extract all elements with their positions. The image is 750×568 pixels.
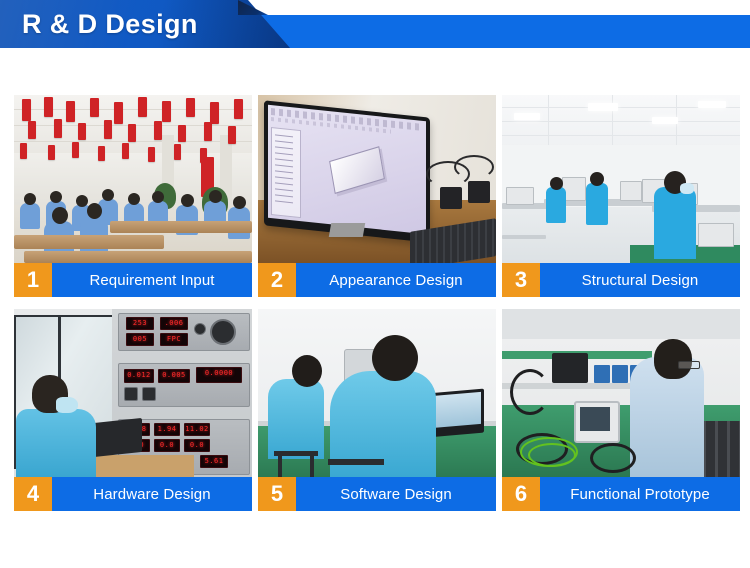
step-photo-6 xyxy=(502,309,740,477)
photo-cad-monitor xyxy=(258,95,496,263)
step-number-4: 4 xyxy=(14,477,52,511)
step-photo-1 xyxy=(14,95,252,263)
photo-clean-lab xyxy=(502,95,740,263)
page-title: R & D Design xyxy=(22,6,198,42)
step-card-6[interactable]: 6 Functional Prototype xyxy=(502,309,740,511)
step-label-5: Software Design xyxy=(296,477,496,511)
step-photo-3 xyxy=(502,95,740,263)
step-photo-4: 253 .006 005 FPC 0.012 0.005 0.0000 1.98… xyxy=(14,309,252,477)
step-number-3: 3 xyxy=(502,263,540,297)
header-diagonal-notch xyxy=(238,0,268,16)
step-caption-1: 1 Requirement Input xyxy=(14,263,252,297)
step-number-6: 6 xyxy=(502,477,540,511)
step-number-5: 5 xyxy=(258,477,296,511)
step-label-6: Functional Prototype xyxy=(540,477,740,511)
step-label-1: Requirement Input xyxy=(52,263,252,297)
step-label-4: Hardware Design xyxy=(52,477,252,511)
step-card-4[interactable]: 253 .006 005 FPC 0.012 0.005 0.0000 1.98… xyxy=(14,309,252,511)
step-label-3: Structural Design xyxy=(540,263,740,297)
step-number-1: 1 xyxy=(14,263,52,297)
photo-meeting-room xyxy=(14,95,252,263)
photo-instrument-rack: 253 .006 005 FPC 0.012 0.005 0.0000 1.98… xyxy=(14,309,252,477)
step-label-2: Appearance Design xyxy=(296,263,496,297)
step-photo-5 xyxy=(258,309,496,477)
step-photo-2 xyxy=(258,95,496,263)
step-number-2: 2 xyxy=(258,263,296,297)
step-caption-5: 5 Software Design xyxy=(258,477,496,511)
page-header: R & D Design xyxy=(0,0,750,48)
step-caption-6: 6 Functional Prototype xyxy=(502,477,740,511)
process-step-grid: 1 Requirement Input xyxy=(14,95,736,511)
step-card-1[interactable]: 1 Requirement Input xyxy=(14,95,252,297)
step-caption-2: 2 Appearance Design xyxy=(258,263,496,297)
step-caption-3: 3 Structural Design xyxy=(502,263,740,297)
photo-prototype-assembly xyxy=(502,309,740,477)
photo-esd-bench xyxy=(258,309,496,477)
step-card-3[interactable]: 3 Structural Design xyxy=(502,95,740,297)
step-caption-4: 4 Hardware Design xyxy=(14,477,252,511)
step-card-5[interactable]: 5 Software Design xyxy=(258,309,496,511)
step-card-2[interactable]: 2 Appearance Design xyxy=(258,95,496,297)
